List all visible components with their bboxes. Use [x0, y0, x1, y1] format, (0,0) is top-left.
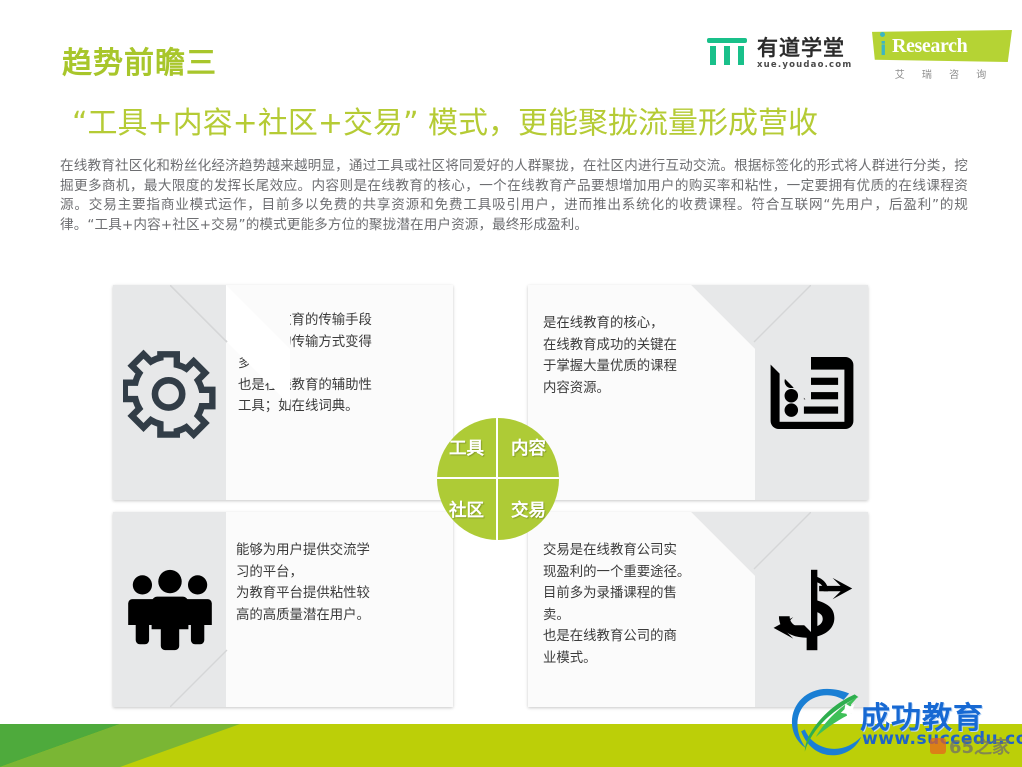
quadrant-icon-pane-community — [113, 512, 226, 707]
quadrant-card-content: 是在线教育的核心， 在线教育成功的关键在 于掌握大量优质的课程 内容资源。 — [528, 285, 868, 500]
quadrant-icon-pane-tools — [113, 285, 226, 500]
iresearch-dot-icon — [880, 32, 885, 37]
watermark-label: 65之家 — [949, 733, 1010, 759]
iresearch-band: i Research — [872, 30, 1012, 62]
page-title: 趋势前瞻三 — [62, 38, 217, 82]
quadrant-text-tools: 是在线教育的传输手段 将课程的传输方式变得 多样化。 也是在线教育的辅助性 工具… — [238, 310, 448, 495]
youdao-logo-cn: 有道学堂 — [757, 37, 845, 59]
center-hub-circle: 工具 内容 社区 交易 — [437, 418, 559, 540]
quadrant-text-content: 是在线教育的核心， 在线教育成功的关键在 于掌握大量优质的课程 内容资源。 — [543, 313, 755, 493]
iresearch-logo-cn: 艾 瑞 咨 询 — [872, 66, 1012, 81]
succedu-logo: 成功教育 www.succedu.com 65之家 — [790, 685, 1016, 761]
quadrant-card-community: 能够为用户提供交流学 习的平台， 为教育平台提供粘性较 高的高质量潜在用户。 — [113, 512, 453, 707]
quadrant-card-trade: 交易是在线教育公司实 现盈利的一个重要途径。 目前多为录播课程的售 卖。 也是在… — [528, 512, 868, 707]
watermark-badge-icon — [930, 738, 946, 754]
quadrant-text-trade: 交易是在线教育公司实 现盈利的一个重要途径。 目前多为录播课程的售 卖。 也是在… — [543, 540, 755, 705]
pillar-icon — [706, 36, 748, 70]
quadrant-icon-pane-content — [755, 285, 868, 500]
swoosh-icon — [790, 687, 864, 759]
intro-paragraph: 在线教育社区化和粉丝化经济趋势越来越明显，通过工具或社区将同爱好的人群聚拢，在社… — [60, 157, 968, 235]
dollar-exchange-icon — [767, 568, 857, 652]
quadrant-text-community: 能够为用户提供交流学 习的平台， 为教育平台提供粘性较 高的高质量潜在用户。 — [236, 540, 448, 700]
iresearch-logo: i Research 艾 瑞 咨 询 — [872, 30, 1012, 81]
iresearch-logo-i: i — [880, 40, 887, 59]
watermark: 65之家 — [930, 733, 1010, 759]
people-group-icon — [124, 569, 216, 651]
youdao-logo: 有道学堂 xue.youdao.com — [706, 36, 852, 70]
youdao-logo-url: xue.youdao.com — [757, 60, 852, 70]
quadrant-card-tools: 是在线教育的传输手段 将课程的传输方式变得 多样化。 也是在线教育的辅助性 工具… — [113, 285, 453, 500]
page-subtitle: “工具+内容+社区+交易” 模式，更能聚拢流量形成营收 — [72, 98, 818, 142]
content-list-icon — [767, 348, 857, 438]
iresearch-logo-word: Research — [892, 35, 967, 58]
gear-icon — [123, 346, 217, 440]
quadrant-icon-pane-trade — [755, 512, 868, 707]
